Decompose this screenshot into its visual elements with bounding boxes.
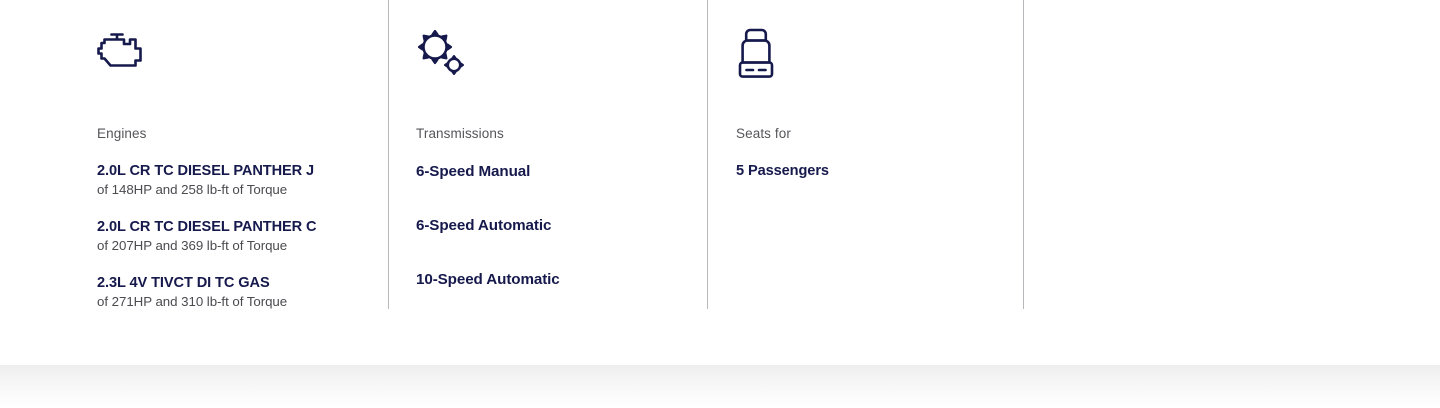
car-seat-icon xyxy=(736,28,776,80)
spec-columns: Engines 2.0L CR TC DIESEL PANTHER J of 1… xyxy=(0,0,1440,360)
engine-title: 2.0L CR TC DIESEL PANTHER C xyxy=(97,218,388,237)
transmission-title: 6-Speed Automatic xyxy=(416,216,707,235)
engine-title: 2.3L 4V TIVCT DI TC GAS xyxy=(97,274,388,293)
list-item: 6-Speed Manual xyxy=(416,162,707,181)
list-item: 2.0L CR TC DIESEL PANTHER J of 148HP and… xyxy=(97,162,388,199)
car-seat-icon-slot xyxy=(736,28,1023,90)
list-item: 10-Speed Automatic xyxy=(416,270,707,289)
engine-subtitle: of 207HP and 369 lb-ft of Torque xyxy=(97,237,388,255)
transmission-title: 10-Speed Automatic xyxy=(416,270,707,289)
list-item: 5 Passengers xyxy=(736,162,1023,181)
engine-icon xyxy=(97,28,145,72)
transmission-title: 6-Speed Manual xyxy=(416,162,707,181)
vehicle-specs-panel: Engines 2.0L CR TC DIESEL PANTHER J of 1… xyxy=(0,0,1440,408)
engine-list: 2.0L CR TC DIESEL PANTHER J of 148HP and… xyxy=(97,162,388,311)
list-item: 2.3L 4V TIVCT DI TC GAS of 271HP and 310… xyxy=(97,274,388,311)
engine-title: 2.0L CR TC DIESEL PANTHER J xyxy=(97,162,388,181)
column-label-seats: Seats for xyxy=(736,126,1023,142)
spec-column-transmissions: Transmissions 6-Speed Manual 6-Speed Aut… xyxy=(388,0,707,360)
spec-column-seats: Seats for 5 Passengers xyxy=(707,0,1023,360)
list-item: 2.0L CR TC DIESEL PANTHER C of 207HP and… xyxy=(97,218,388,255)
column-label-transmissions: Transmissions xyxy=(416,126,707,142)
list-item: 6-Speed Automatic xyxy=(416,216,707,235)
spec-column-engines: Engines 2.0L CR TC DIESEL PANTHER J of 1… xyxy=(0,0,388,360)
engine-subtitle: of 271HP and 310 lb-ft of Torque xyxy=(97,293,388,311)
gears-icon-slot xyxy=(416,28,707,90)
column-label-engines: Engines xyxy=(97,126,388,142)
seats-title: 5 Passengers xyxy=(736,162,1023,181)
seats-list: 5 Passengers xyxy=(736,162,1023,181)
spec-column-empty xyxy=(1023,0,1440,360)
gears-icon xyxy=(416,28,466,78)
engine-subtitle: of 148HP and 258 lb-ft of Torque xyxy=(97,181,388,199)
bottom-gradient-band xyxy=(0,365,1440,408)
engine-icon-slot xyxy=(97,28,388,90)
transmission-list: 6-Speed Manual 6-Speed Automatic 10-Spee… xyxy=(416,162,707,289)
